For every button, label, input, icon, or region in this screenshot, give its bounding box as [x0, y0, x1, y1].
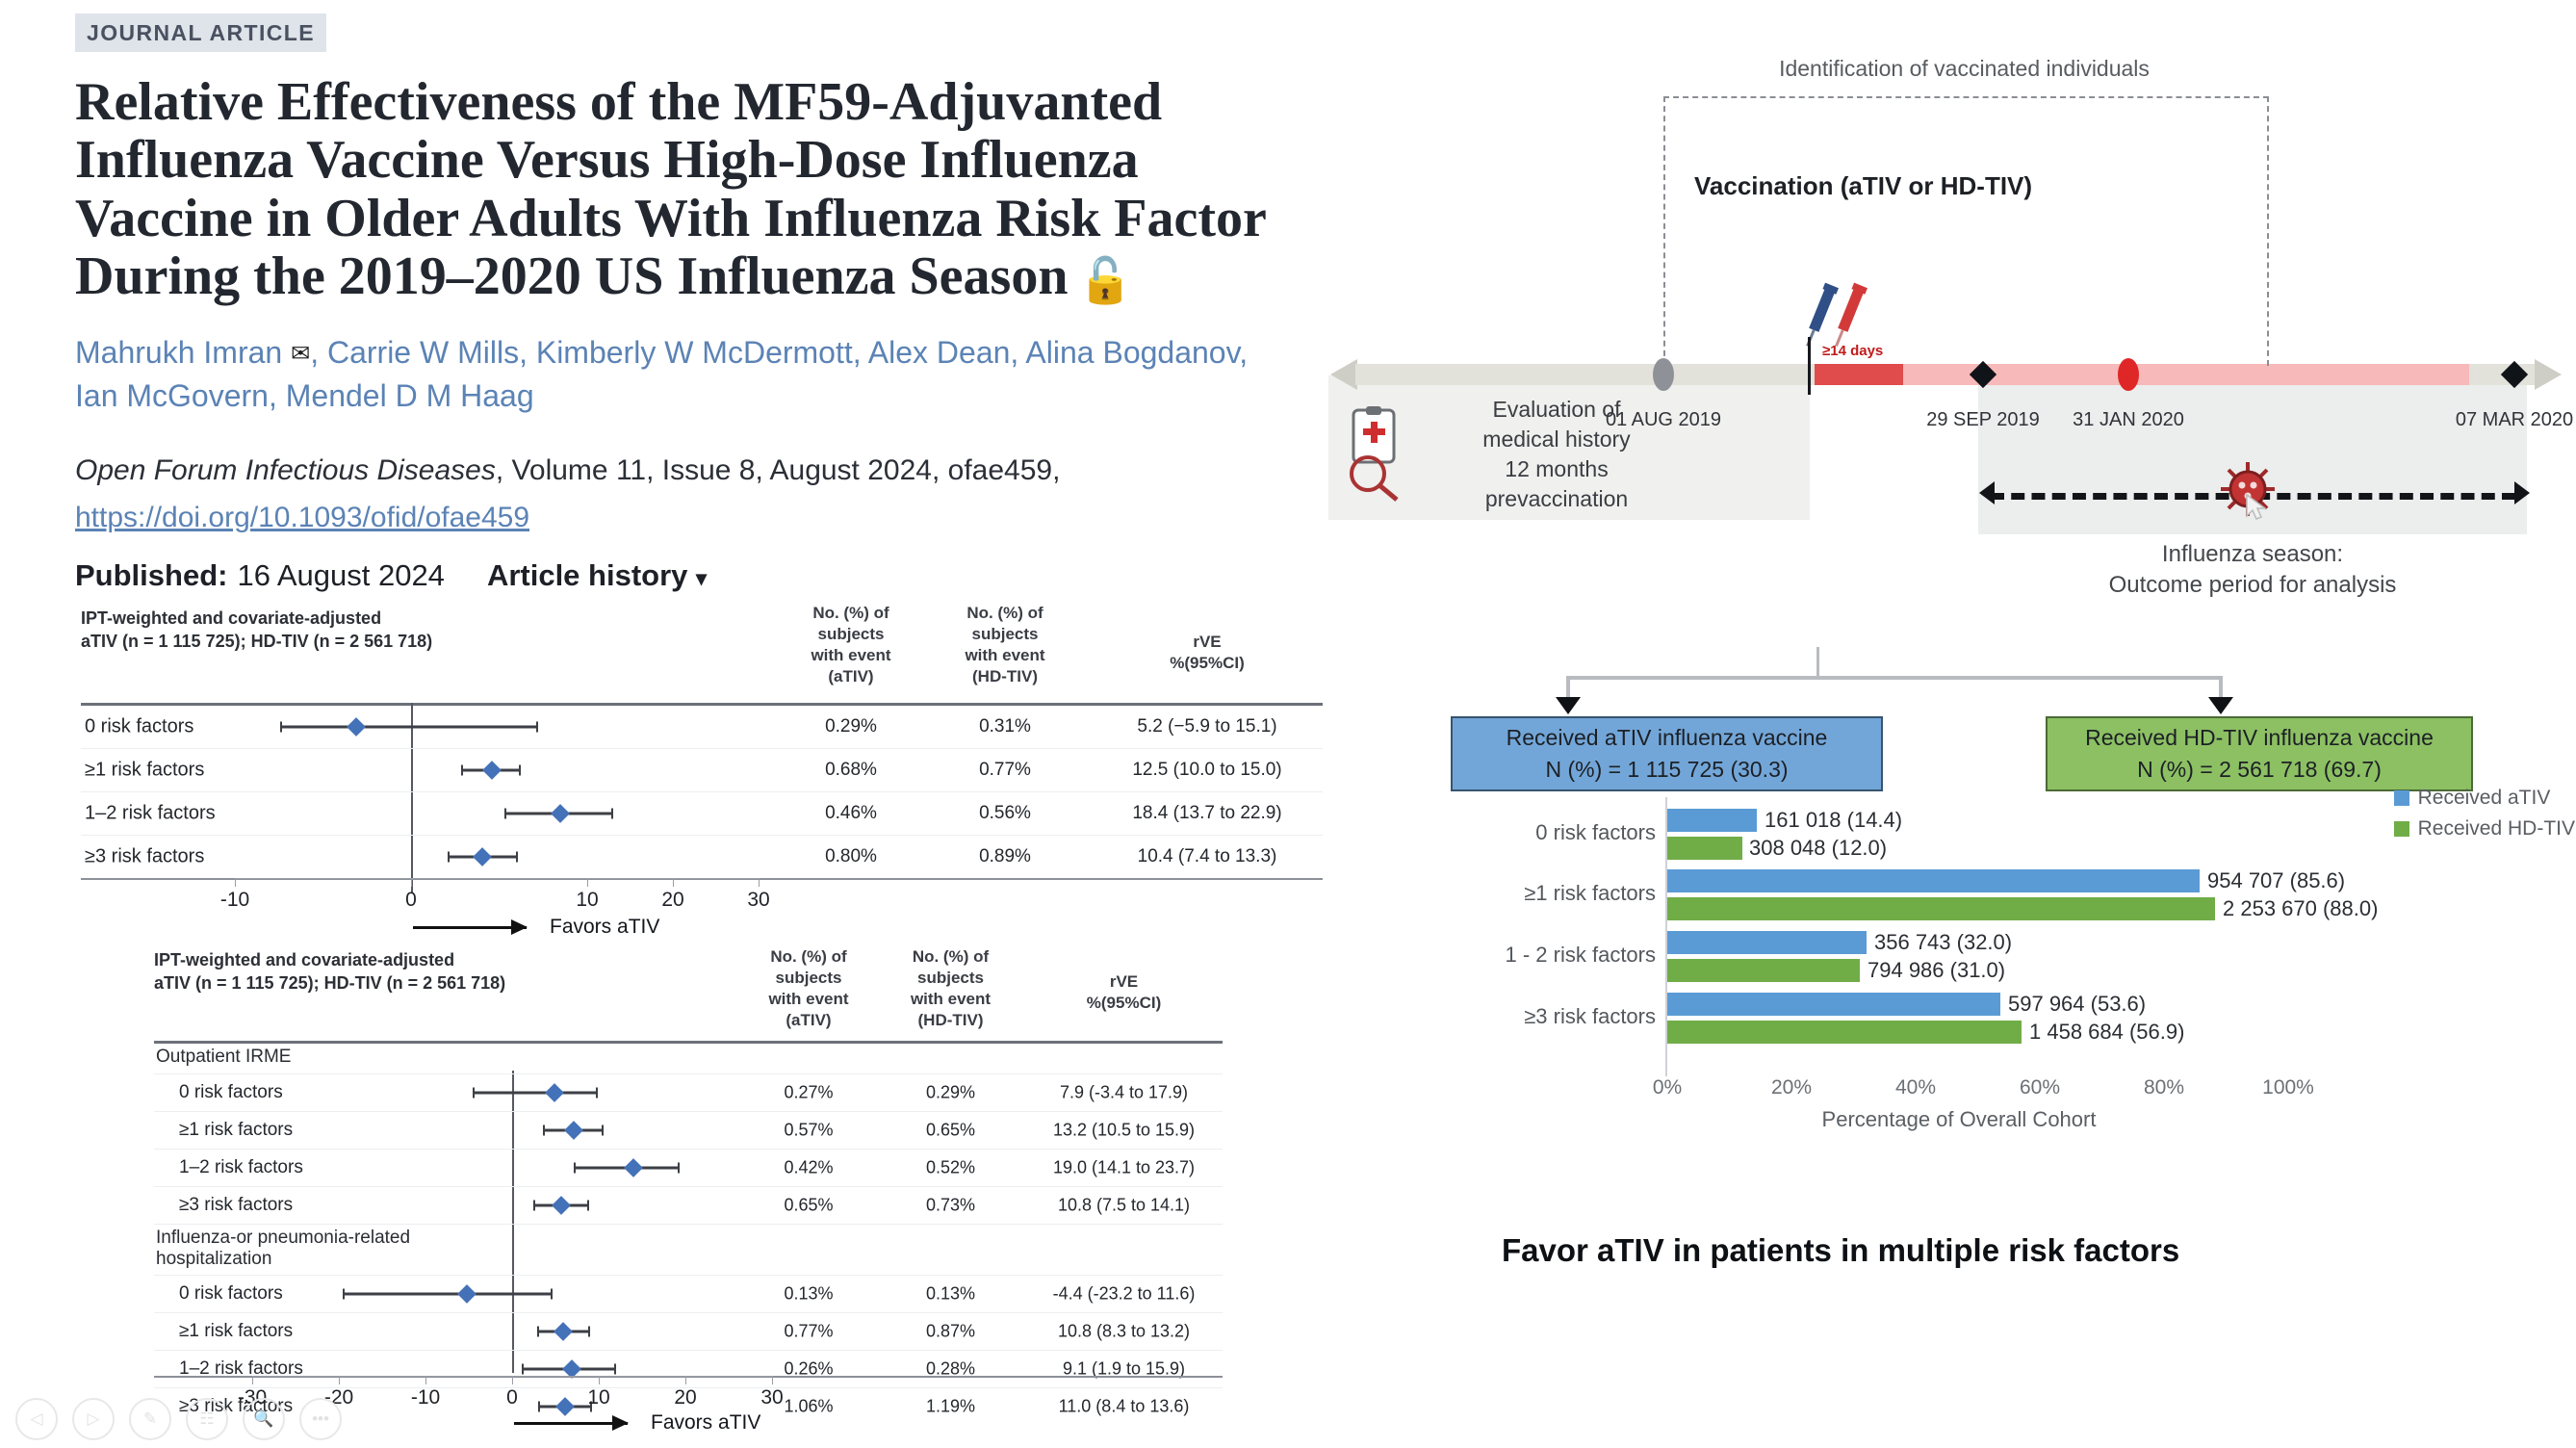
confidence-interval — [473, 1092, 598, 1095]
risk-factor-distribution-chart: Received aTIV Received HD-TIV 0 risk fac… — [1487, 788, 2570, 1115]
cell-rve: 13.2 (10.5 to 15.9) — [1025, 1121, 1223, 1141]
point-estimate-marker — [552, 1196, 571, 1215]
timeline-marker-31jan — [2118, 358, 2139, 391]
cell-rve: 11.0 (8.4 to 13.6) — [1025, 1397, 1223, 1417]
vaccination-label: Vaccination (aTIV or HD-TIV) — [1694, 171, 2032, 201]
prev-slide-button[interactable]: ◁ — [15, 1398, 58, 1440]
flow-stem — [1816, 647, 1819, 676]
forest1-col-header-rve: rVE%(95%CI) — [1096, 632, 1318, 674]
cell-ativ: 0.13% — [741, 1284, 876, 1305]
cell-hdtiv: 0.29% — [881, 1083, 1020, 1103]
legend-item-ativ: Received aTIV — [2394, 783, 2575, 814]
bar-value-label: 1 458 684 (56.9) — [2029, 1020, 2184, 1045]
chevron-down-icon: ▾ — [696, 566, 707, 590]
x-tick-label: 0 — [405, 889, 417, 912]
cell-rve: 18.4 (13.7 to 22.9) — [1096, 803, 1318, 824]
influenza-season-label: Influenza season:Outcome period for anal… — [2002, 539, 2503, 602]
bar-value-label: 308 048 (12.0) — [1749, 836, 1887, 861]
forest2-col-header-hdtiv: No. (%) ofsubjectswith event(HD-TIV) — [881, 946, 1020, 1031]
cell-rve: 10.4 (7.4 to 13.3) — [1096, 846, 1318, 867]
title-line-2: Influenza Vaccine Versus High-Dose Influ… — [75, 130, 1139, 190]
legend-swatch-ativ — [2394, 790, 2409, 806]
author-link-imran[interactable]: Mahrukh Imran — [75, 335, 282, 370]
bar-chart-x-axis-title: Percentage of Overall Cohort — [1665, 1107, 2253, 1132]
cell-ativ: 0.80% — [779, 846, 923, 867]
next-slide-button[interactable]: ▷ — [72, 1398, 115, 1440]
mouse-cursor-icon — [2245, 493, 2270, 522]
bar-category-label: 1 - 2 risk factors — [1506, 943, 1656, 968]
table-row: 0 risk factors 0.27% 0.29% 7.9 (-3.4 to … — [154, 1074, 1223, 1112]
row-label: ≥1 risk factors — [179, 1120, 293, 1141]
forest2-col-header-rve: rVE%(95%CI) — [1025, 971, 1223, 1014]
pen-icon[interactable]: ✎ — [129, 1398, 171, 1440]
table-row: 0 risk factors 0.13% 0.13% -4.4 (-23.2 t… — [154, 1276, 1223, 1313]
slides-icon[interactable]: ☷ — [186, 1398, 228, 1440]
bar-value-label: 356 743 (32.0) — [1874, 930, 2012, 955]
forest-plot-by-outcome: IPT-weighted and covariate-adjustedaTIV … — [154, 948, 1223, 1430]
cohort-box-hdtiv-title: Received HD-TIV influenza vaccine — [2085, 722, 2434, 754]
favors-arrow-icon — [413, 926, 527, 929]
timeline-date-label: 07 MAR 2020 — [2456, 409, 2573, 431]
bar-value-label: 954 707 (85.6) — [2207, 868, 2345, 893]
forest2-x-axis: -30 -20 -10 0 10 20 30 — [252, 1376, 772, 1377]
point-estimate-marker — [545, 1083, 564, 1102]
forest1-x-axis: -10 0 10 20 30 — [235, 878, 760, 879]
bar-hdtiv — [1667, 959, 1860, 982]
forest2-header: IPT-weighted and covariate-adjustedaTIV … — [154, 948, 505, 995]
favors-label: Favors aTIV — [550, 916, 659, 939]
cell-hdtiv: 0.77% — [928, 760, 1082, 781]
bar-hdtiv — [1667, 1021, 2022, 1044]
row-label: 0 risk factors — [179, 1082, 283, 1103]
row-label: ≥3 risk factors — [179, 1195, 293, 1216]
table-row: ≥1 risk factors 0.77% 0.87% 10.8 (8.3 to… — [154, 1313, 1223, 1351]
favors-label: Favors aTIV — [651, 1411, 760, 1435]
table-row: ≥1 risk factors 0.68% 0.77% 12.5 (10.0 t… — [81, 749, 1323, 792]
author-list-rest[interactable]: , Carrie W Mills, Kimberly W McDermott, … — [310, 335, 1248, 370]
point-estimate-marker — [564, 1121, 583, 1140]
envelope-icon[interactable]: ✉ — [291, 338, 310, 371]
table-row: ≥1 risk factors 0.57% 0.65% 13.2 (10.5 t… — [154, 1112, 1223, 1150]
flow-connector — [1566, 676, 2221, 680]
cell-hdtiv: 0.89% — [928, 846, 1082, 867]
title-line-1: Relative Effectiveness of the MF59-Adjuv… — [75, 72, 1162, 132]
cohort-flow-diagram: Received aTIV influenza vaccine N (%) = … — [1449, 647, 2570, 772]
bar-value-label: 161 018 (14.4) — [1765, 808, 1902, 833]
group-header-row: Influenza-or pneumonia-relatedhospitaliz… — [154, 1225, 1223, 1276]
row-label: ≥1 risk factors — [179, 1321, 293, 1342]
cell-hdtiv: 0.73% — [881, 1196, 1020, 1216]
cell-rve: 10.8 (7.5 to 14.1) — [1025, 1196, 1223, 1216]
timeline-marker-01aug — [1653, 358, 1674, 391]
flow-arrowhead-left-icon — [1556, 697, 1581, 714]
cell-ativ: 0.27% — [741, 1083, 876, 1103]
bar-category-label: ≥3 risk factors — [1524, 1004, 1656, 1029]
journal-name: Open Forum Infectious Diseases — [75, 454, 496, 486]
vaccination-marker-line — [1808, 337, 1811, 395]
title-line-3: Vaccine in Older Adults With Influenza R… — [75, 189, 1267, 248]
cell-hdtiv: 1.19% — [881, 1397, 1020, 1417]
timeline-date-label: 31 JAN 2020 — [2073, 409, 2184, 431]
cell-hdtiv: 0.87% — [881, 1322, 1020, 1342]
published-row: Published:16 August 2024Article history … — [75, 558, 1327, 593]
point-estimate-marker — [457, 1284, 477, 1304]
bar-chart-legend: Received aTIV Received HD-TIV — [2394, 783, 2575, 843]
bar-category-label: ≥1 risk factors — [1524, 881, 1656, 906]
table-row: 0 risk factors 0.29% 0.31% 5.2 (−5.9 to … — [81, 706, 1323, 749]
interval-days-label: ≥14 days — [1822, 343, 1883, 359]
cohort-box-hdtiv: Received HD-TIV influenza vaccine N (%) … — [2046, 716, 2473, 791]
confidence-interval — [280, 726, 538, 729]
x-tick-label: 10 — [576, 889, 598, 912]
study-timeline-diagram: Identification of vaccinated individuals… — [1328, 58, 2570, 530]
x-tick-label: 20 — [661, 889, 683, 912]
bar-category-label: 0 risk factors — [1535, 820, 1656, 845]
cohort-box-ativ: Received aTIV influenza vaccine N (%) = … — [1451, 716, 1883, 791]
forest2-rows: Outpatient IRME 0 risk factors 0.27% 0.2… — [154, 1044, 1223, 1425]
identification-bracket — [1663, 96, 2269, 366]
point-estimate-marker — [482, 761, 502, 780]
row-label: 1–2 risk factors — [179, 1157, 303, 1178]
cell-hdtiv: 0.65% — [881, 1121, 1020, 1141]
row-label: 1–2 risk factors — [85, 803, 216, 825]
x-tick-label: 20 — [674, 1386, 696, 1409]
cohort-box-ativ-title: Received aTIV influenza vaccine — [1507, 722, 1828, 754]
bar-value-label: 794 986 (31.0) — [1868, 958, 2005, 983]
season-right-arrow-icon — [2514, 481, 2530, 504]
journal-citation: Open Forum Infectious Diseases, Volume 1… — [75, 450, 1327, 539]
x-tick-label: 10 — [587, 1386, 609, 1409]
magnifier-icon[interactable]: 🔍 — [243, 1398, 285, 1440]
slide-caption: Favor aTIV in patients in multiple risk … — [1502, 1232, 2179, 1269]
legend-swatch-hdtiv — [2394, 821, 2409, 837]
x-tick-label: 30 — [760, 1386, 783, 1409]
journal-volume-issue: , Volume 11, Issue 8, August 2024, ofae4… — [496, 454, 1061, 486]
forest1-header: IPT-weighted and covariate-adjustedaTIV … — [81, 607, 432, 654]
table-row: ≥3 risk factors 0.65% 0.73% 10.8 (7.5 to… — [154, 1187, 1223, 1225]
x-tick-label: 0% — [1653, 1076, 1682, 1099]
bar-ativ — [1667, 993, 2000, 1016]
point-estimate-marker — [473, 847, 492, 866]
bar-ativ — [1667, 931, 1867, 954]
favors-arrow-icon — [514, 1422, 628, 1425]
x-tick-label: 0 — [506, 1386, 518, 1409]
timeline-left-arrow-icon — [1330, 359, 1357, 390]
group-header-row: Outpatient IRME — [154, 1044, 1223, 1074]
x-tick-label: 80% — [2144, 1076, 2184, 1099]
cell-rve: 7.9 (-3.4 to 17.9) — [1025, 1083, 1223, 1103]
journal-article-badge: JOURNAL ARTICLE — [75, 13, 326, 52]
timeline-right-arrow-icon — [2535, 359, 2562, 390]
legend-item-hdtiv: Received HD-TIV — [2394, 814, 2575, 844]
cell-hdtiv: 0.13% — [881, 1284, 1020, 1305]
cell-ativ: 0.68% — [779, 760, 923, 781]
published-date: 16 August 2024 — [237, 558, 444, 592]
table-row: 1–2 risk factors 0.42% 0.52% 19.0 (14.1 … — [154, 1150, 1223, 1187]
group-label: Outpatient IRME — [156, 1047, 291, 1068]
forest2-col-header-ativ: No. (%) ofsubjectswith event(aTIV) — [741, 946, 876, 1031]
bar-value-label: 2 253 670 (88.0) — [2223, 896, 2378, 921]
point-estimate-marker — [551, 804, 570, 823]
table-row: 1–2 risk factors 0.26% 0.28% 9.1 (1.9 to… — [154, 1351, 1223, 1388]
journal-article-header: JOURNAL ARTICLE Relative Effectiveness o… — [75, 13, 1327, 593]
group-label: Influenza-or pneumonia-relatedhospitaliz… — [156, 1228, 410, 1271]
point-estimate-marker — [555, 1397, 575, 1416]
identification-label: Identification of vaccinated individuals — [1663, 56, 2265, 82]
cell-ativ: 0.65% — [741, 1196, 876, 1216]
point-estimate-marker — [554, 1322, 573, 1341]
forest1-col-header-ativ: No. (%) ofsubjectswith event(aTIV) — [779, 603, 923, 687]
title-line-4: During the 2019–2020 US Influenza Season — [75, 246, 1068, 306]
x-tick-label: 100% — [2262, 1076, 2314, 1099]
bar-value-label: 597 964 (53.6) — [2008, 992, 2146, 1017]
bar-ativ — [1667, 809, 1757, 832]
x-tick-label: 40% — [1895, 1076, 1936, 1099]
cell-hdtiv: 0.52% — [881, 1158, 1020, 1178]
presentation-slide: JOURNAL ARTICLE Relative Effectiveness o… — [0, 0, 2576, 1448]
cell-hdtiv: 0.31% — [928, 716, 1082, 737]
cohort-box-ativ-count: N (%) = 1 115 725 (30.3) — [1545, 754, 1788, 786]
row-label: 0 risk factors — [85, 716, 193, 738]
published-label: Published: — [75, 558, 227, 592]
flow-arrowhead-right-icon — [2208, 697, 2233, 714]
table-row: ≥3 risk factors 0.80% 0.89% 10.4 (7.4 to… — [81, 836, 1323, 878]
forest1-col-header-hdtiv: No. (%) ofsubjectswith event(HD-TIV) — [928, 603, 1082, 687]
x-tick-label: 60% — [2020, 1076, 2060, 1099]
cell-ativ: 0.29% — [779, 716, 923, 737]
more-options-icon[interactable]: ••• — [299, 1398, 342, 1440]
bar-hdtiv — [1667, 897, 2215, 920]
author-list: Mahrukh Imran ✉, Carrie W Mills, Kimberl… — [75, 331, 1355, 419]
medical-history-label: Evaluation ofmedical history12 monthspre… — [1398, 395, 1715, 514]
cell-ativ: 0.42% — [741, 1158, 876, 1178]
presentation-nav-controls: ◁ ▷ ✎ ☷ 🔍 ••• — [15, 1398, 342, 1440]
cell-rve: 5.2 (−5.9 to 15.1) — [1096, 716, 1318, 737]
x-tick-label: 30 — [747, 889, 769, 912]
cohort-box-hdtiv-count: N (%) = 2 561 718 (69.7) — [2137, 754, 2382, 786]
forest1-rows: 0 risk factors 0.29% 0.31% 5.2 (−5.9 to … — [81, 706, 1323, 878]
cell-rve: 19.0 (14.1 to 23.7) — [1025, 1158, 1223, 1178]
timeline-red-band — [1815, 364, 2469, 385]
author-list-line2[interactable]: Ian McGovern, Mendel D M Haag — [75, 378, 534, 413]
x-tick-label: -10 — [220, 889, 249, 912]
cell-rve: 12.5 (10.0 to 15.0) — [1096, 760, 1318, 781]
row-label: 0 risk factors — [179, 1283, 283, 1305]
cell-ativ: 0.57% — [741, 1121, 876, 1141]
page-title: Relative Effectiveness of the MF59-Adjuv… — [75, 73, 1322, 306]
timeline-interval-bar — [1815, 364, 1903, 385]
cell-rve: 10.8 (8.3 to 13.2) — [1025, 1322, 1223, 1342]
forest-plot-overall: IPT-weighted and covariate-adjustedaTIV … — [81, 607, 1323, 886]
cell-hdtiv: 0.56% — [928, 803, 1082, 824]
cell-rve: -4.4 (-23.2 to 11.6) — [1025, 1284, 1223, 1305]
row-label: ≥3 risk factors — [85, 846, 204, 868]
table-row: 1–2 risk factors 0.46% 0.56% 18.4 (13.7 … — [81, 792, 1323, 836]
point-estimate-marker — [624, 1158, 643, 1177]
bar-ativ — [1667, 869, 2200, 892]
cell-ativ: 0.46% — [779, 803, 923, 824]
x-tick-label: -10 — [411, 1386, 440, 1409]
article-history-toggle[interactable]: Article history ▾ — [487, 558, 707, 592]
row-label: ≥1 risk factors — [85, 760, 204, 782]
confidence-interval — [343, 1293, 553, 1296]
cell-ativ: 0.77% — [741, 1322, 876, 1342]
x-tick-label: 20% — [1771, 1076, 1812, 1099]
open-lock-icon: 🔓 — [1077, 256, 1132, 305]
timeline-date-label: 29 SEP 2019 — [1926, 409, 2040, 431]
point-estimate-marker — [347, 717, 366, 737]
doi-link[interactable]: https://doi.org/10.1093/ofid/ofae459 — [75, 497, 1327, 539]
bar-hdtiv — [1667, 837, 1742, 860]
